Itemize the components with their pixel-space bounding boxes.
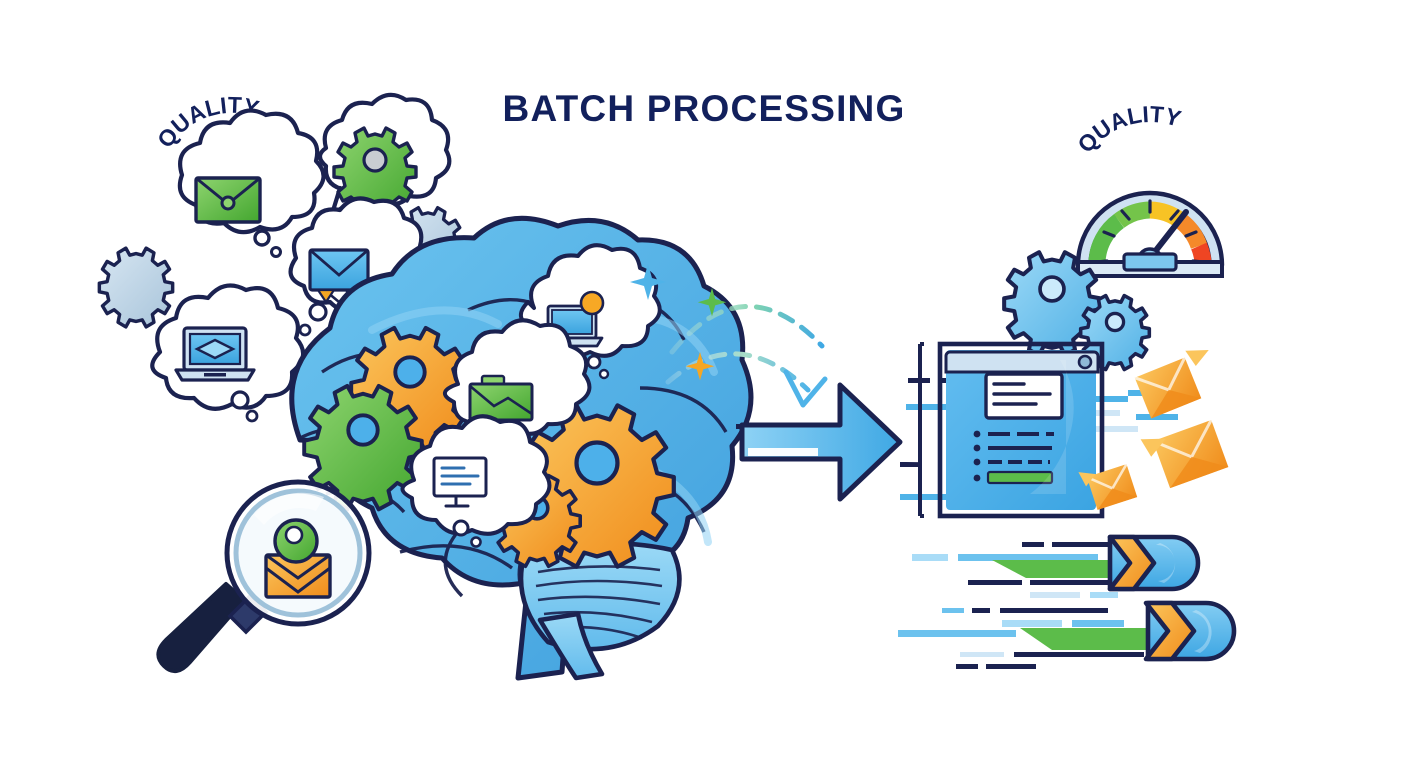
speed-capsule-1 bbox=[912, 537, 1198, 598]
magnifying-glass bbox=[158, 482, 369, 671]
thought-bubble-laptop bbox=[152, 286, 303, 422]
document-window bbox=[920, 344, 1102, 516]
speech-bubble-green-gear bbox=[320, 95, 449, 216]
speed-capsule-2 bbox=[898, 603, 1234, 669]
envelope-flying-2 bbox=[1141, 414, 1229, 492]
speed-lines-2 bbox=[898, 608, 1170, 669]
illustration-svg: QUALITY bbox=[0, 0, 1408, 768]
gear-grey-small bbox=[99, 248, 172, 327]
illustration-canvas: BATCH PROCESSING bbox=[0, 0, 1408, 768]
right-cluster: QUALITY bbox=[898, 101, 1234, 669]
envelope-flying-1 bbox=[1132, 343, 1224, 419]
quality-gauge bbox=[1078, 193, 1222, 276]
brain-illustration bbox=[292, 218, 751, 678]
process-arrow bbox=[742, 385, 900, 499]
right-quality-label: QUALITY bbox=[1072, 101, 1184, 158]
